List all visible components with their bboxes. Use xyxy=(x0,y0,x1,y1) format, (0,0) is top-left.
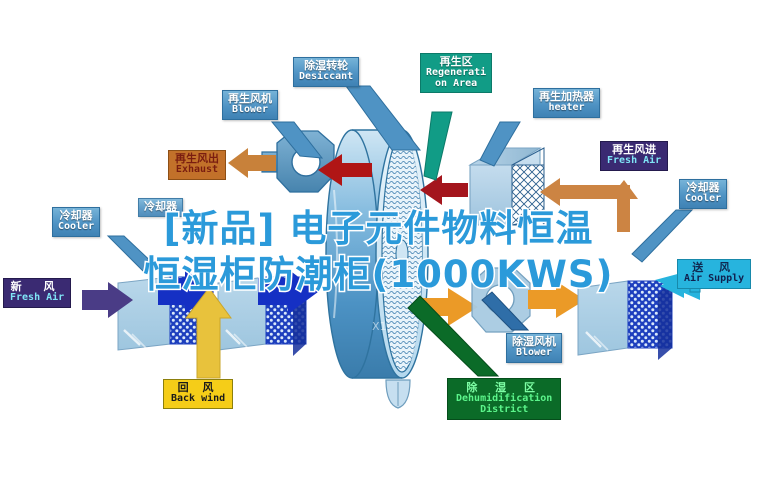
label-cooler-left-2: 冷却器 xyxy=(138,198,183,217)
dry-air-arrow-2 xyxy=(528,281,585,318)
label-desiccant-wheel-en: Desiccant xyxy=(299,72,353,83)
label-regeneration-heater-en: heater xyxy=(539,103,594,114)
drain-duct xyxy=(386,380,410,408)
post-cooler-coil xyxy=(578,281,672,360)
label-desiccant-wheel: 除湿转轮 Desiccant xyxy=(293,57,359,87)
label-regeneration-fresh-air-in-en: Fresh Air xyxy=(607,156,661,167)
svg-text:X1: X1 xyxy=(372,320,387,333)
label-regeneration-heater: 再生加热器 heater xyxy=(533,88,600,118)
label-back-wind-en: Back wind xyxy=(171,394,225,405)
label-regeneration-area-en2: on Area xyxy=(426,79,486,90)
label-regeneration-fresh-air-in: 再生风进 Fresh Air xyxy=(600,141,668,171)
label-cooler-left-en: Cooler xyxy=(58,222,94,233)
label-air-supply: 送 风 Air Supply xyxy=(677,259,751,289)
label-regeneration-blower-en: Blower xyxy=(228,105,272,116)
label-fresh-air-in-en: Fresh Air xyxy=(10,293,64,304)
label-regeneration-blower: 再生风机 Blower xyxy=(222,90,278,120)
label-dehumidification-district: 除 湿 区 Dehumidification District xyxy=(447,378,561,420)
diagram-canvas: X1 xyxy=(0,0,757,488)
dehumidifier-schematic: X1 xyxy=(0,0,757,488)
label-cooler-right-en: Cooler xyxy=(685,194,721,205)
label-regeneration-exhaust: 再生风出 Exhaust xyxy=(168,150,226,180)
label-cooler-left: 冷却器 Cooler xyxy=(52,207,100,237)
label-air-supply-en: Air Supply xyxy=(684,274,744,285)
label-regeneration-area: 再生区 Regenerati on Area xyxy=(420,53,492,93)
label-regeneration-exhaust-en: Exhaust xyxy=(175,165,219,176)
label-dehumidification-blower: 除湿风机 Blower xyxy=(506,333,562,363)
label-cooler-left-2-cn: 冷却器 xyxy=(144,201,177,213)
label-cooler-right: 冷却器 Cooler xyxy=(679,179,727,209)
regen-heater-out-arrow xyxy=(420,175,468,205)
label-fresh-air-in: 新 风 Fresh Air xyxy=(3,278,71,308)
label-dehumidification-blower-en: Blower xyxy=(512,348,556,359)
label-dehumidification-district-en2: District xyxy=(456,405,552,416)
label-back-wind: 回 风 Back wind xyxy=(163,379,233,409)
